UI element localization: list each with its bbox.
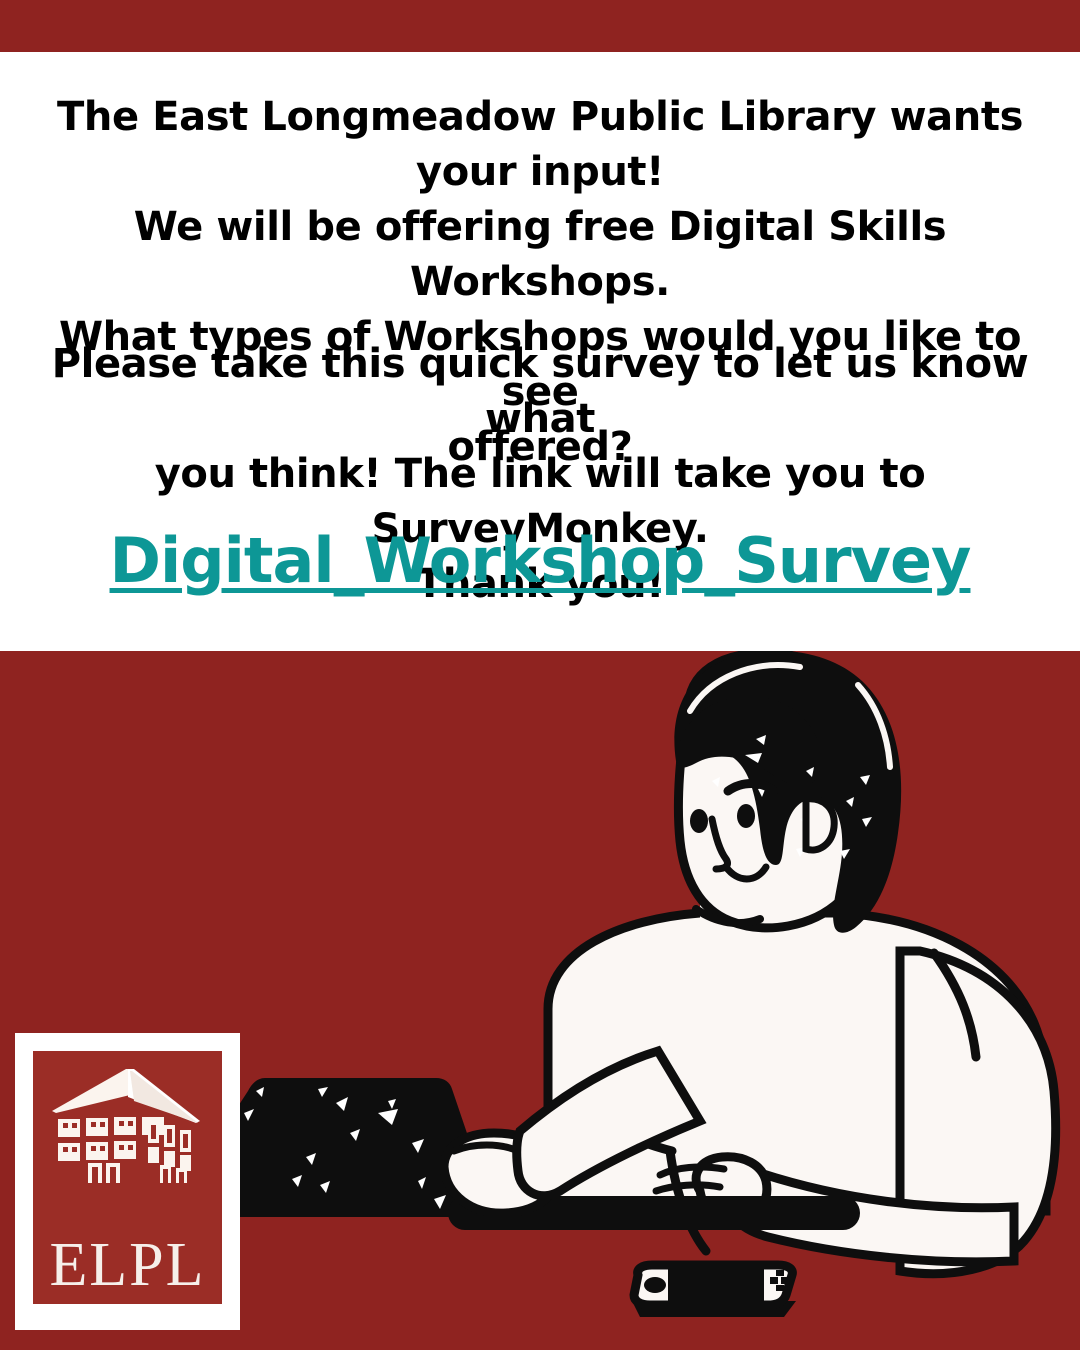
text-panel: The East Longmeadow Public Library wants… [0, 52, 1080, 651]
elpl-logo: ELPL [15, 1033, 240, 1330]
console-screen [668, 1269, 764, 1301]
logo-red-square: ELPL [33, 1051, 222, 1304]
person-ear [806, 799, 834, 850]
library-building-icon [48, 1065, 208, 1183]
person-eye-left [690, 809, 708, 833]
logo-wordmark: ELPL [33, 1234, 222, 1296]
console-joystick [644, 1277, 666, 1293]
survey-link[interactable]: Digital_Workshop_Survey [25, 524, 1055, 597]
top-red-band [0, 0, 1080, 52]
handheld-game-console [632, 1265, 796, 1317]
poster-canvas: The East Longmeadow Public Library wants… [0, 0, 1080, 1350]
person-eye-right [737, 804, 755, 828]
